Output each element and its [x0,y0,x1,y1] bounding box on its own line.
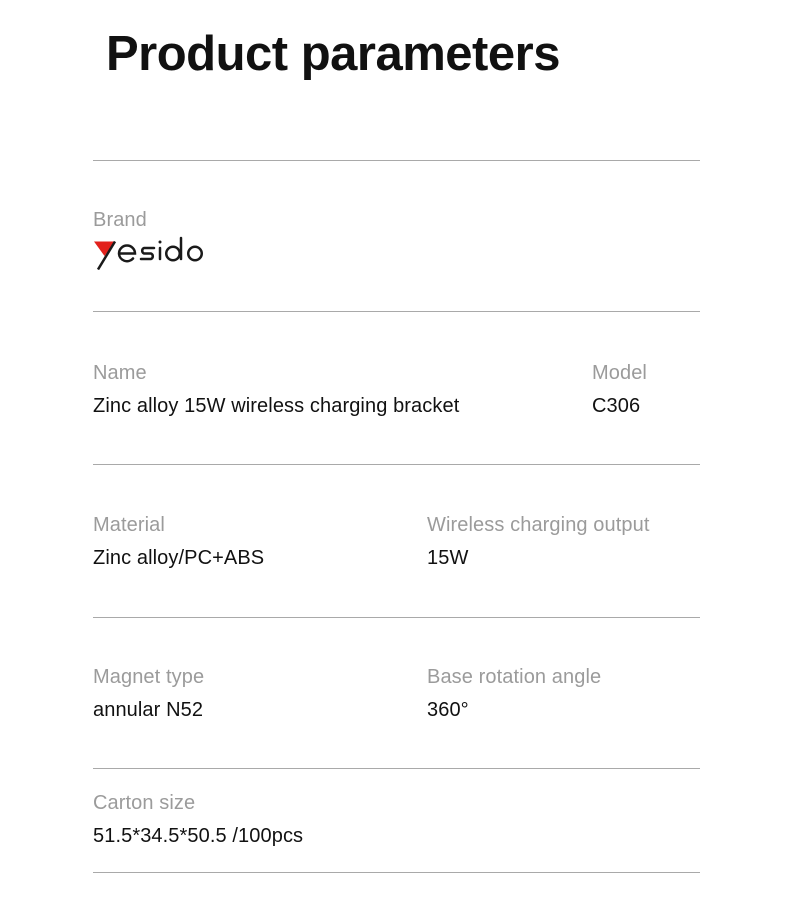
yesido-letter-e [119,246,135,262]
spec-cell-wireless-output: Wireless charging output 15W [427,515,650,568]
divider-6 [93,872,700,873]
spec-label-magnet-type: Magnet type [93,667,204,687]
spec-label-brand: Brand [93,210,221,230]
product-parameters-page: Product parameters Brand [0,0,790,900]
spec-cell-material: Material Zinc alloy/PC+ABS [93,515,264,568]
spec-label-material: Material [93,515,264,535]
spec-label-name: Name [93,363,459,383]
divider-3 [93,464,700,465]
spec-value-base-rotation: 360° [427,700,601,720]
spec-cell-brand: Brand [93,210,221,275]
yesido-logo [93,236,221,275]
spec-label-base-rotation: Base rotation angle [427,667,601,687]
spec-label-carton-size: Carton size [93,793,303,813]
yesido-letter-o [188,247,202,261]
spec-cell-base-rotation: Base rotation angle 360° [427,667,601,720]
spec-label-model: Model [592,363,647,383]
page-title: Product parameters [106,30,560,79]
spec-cell-model: Model C306 [592,363,647,416]
divider-5 [93,768,700,769]
yesido-letter-s [141,248,154,259]
divider-1 [93,160,700,161]
spec-label-wireless-output: Wireless charging output [427,515,650,535]
spec-value-model: C306 [592,396,647,416]
spec-value-material: Zinc alloy/PC+ABS [93,548,264,568]
spec-value-magnet-type: annular N52 [93,700,204,720]
spec-value-wireless-output: 15W [427,548,650,568]
divider-2 [93,311,700,312]
spec-cell-magnet-type: Magnet type annular N52 [93,667,204,720]
yesido-logo-svg [93,236,221,270]
spec-cell-carton-size: Carton size 51.5*34.5*50.5 /100pcs [93,793,303,846]
spec-value-carton-size: 51.5*34.5*50.5 /100pcs [93,826,303,846]
spec-cell-name: Name Zinc alloy 15W wireless charging br… [93,363,459,416]
yesido-letter-i-dot [159,241,162,244]
yesido-letter-d-bowl [166,247,180,261]
divider-4 [93,617,700,618]
spec-value-name: Zinc alloy 15W wireless charging bracket [93,396,459,416]
